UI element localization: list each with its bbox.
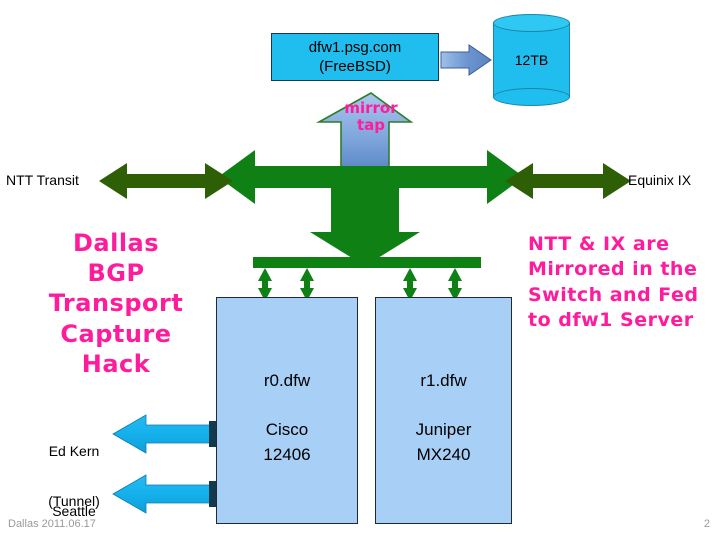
equinix-ix-arrow <box>505 163 631 199</box>
router-box-r1[interactable]: r1.dfw Juniper MX240 <box>375 297 512 524</box>
slide-canvas: dfw1.psg.com (FreeBSD) 12TB mirror tap N… <box>0 0 720 540</box>
slide-page-number: 2 <box>704 518 710 530</box>
equinix-ix-label: Equinix IX <box>628 172 691 189</box>
downlink-ed-kern-line1: Ed Kern <box>38 443 110 460</box>
server-to-storage-arrow <box>441 45 491 75</box>
switch-box[interactable] <box>212 133 508 222</box>
right-callout-note: NTT & IX are Mirrored in the Switch and … <box>528 232 720 333</box>
storage-capacity-label: 12TB <box>493 14 570 106</box>
downlink-arrow-seattle <box>113 475 216 513</box>
server-os: (FreeBSD) <box>319 57 391 77</box>
router-r1-name: r1.dfw <box>420 370 466 393</box>
lan-bus-bar <box>253 257 481 268</box>
router-r1-model: MX240 <box>417 444 471 467</box>
router-r0-name: r0.dfw <box>264 370 310 393</box>
left-callout-title: Dallas BGP Transport Capture Hack <box>36 228 196 379</box>
ntt-transit-label: NTT Transit <box>6 172 79 189</box>
mirror-tap-line2: tap <box>330 117 412 134</box>
router-box-r0[interactable]: r0.dfw Cisco 12406 <box>216 297 358 524</box>
switch-mirror-bus-arrow <box>218 150 524 266</box>
server-hostname: dfw1.psg.com <box>309 38 402 58</box>
mirror-tap-label: mirror tap <box>330 100 412 135</box>
downlink-arrow-ed-kern <box>113 415 216 453</box>
server-box[interactable]: dfw1.psg.com (FreeBSD) <box>271 33 439 81</box>
ntt-transit-arrow <box>99 163 233 199</box>
storage-cylinder[interactable]: 12TB <box>493 14 570 106</box>
router-r0-model: 12406 <box>263 444 310 467</box>
router-r1-vendor: Juniper <box>416 419 472 442</box>
router-r0-vendor: Cisco <box>266 419 309 442</box>
mirror-tap-line1: mirror <box>330 100 412 117</box>
slide-footer-left: Dallas 2011.06.17 <box>8 518 96 530</box>
